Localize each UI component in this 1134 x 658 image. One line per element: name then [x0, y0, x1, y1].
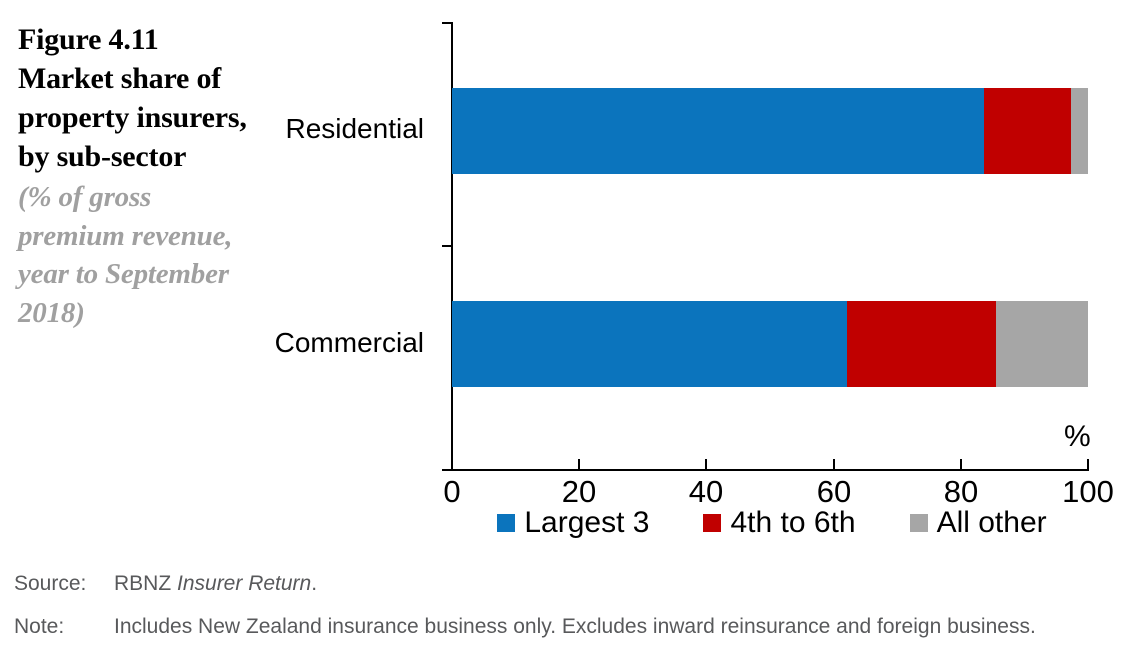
legend-label-largest-3: Largest 3	[524, 508, 649, 538]
category-label-commercial: Commercial	[275, 327, 424, 359]
x-axis-tick-100	[1087, 459, 1089, 470]
legend-item-largest-3[interactable]: Largest 3	[497, 508, 649, 538]
bar-row-commercial	[452, 301, 1088, 387]
note-value: Includes New Zealand insurance business …	[114, 615, 1134, 639]
bar-segment-residential-4th-to-6th	[984, 88, 1072, 174]
source-text: RBNZ	[114, 572, 177, 595]
legend-swatch-largest-3	[497, 514, 515, 532]
category-label-residential: Residential	[285, 113, 424, 145]
source-row: Source: RBNZ Insurer Return.	[14, 572, 1134, 596]
legend-swatch-all-other	[910, 514, 928, 532]
y-axis-tick-top	[442, 22, 451, 24]
x-axis-tick-0	[451, 459, 453, 470]
x-axis-label-0: 0	[443, 474, 460, 510]
bar-segment-commercial-largest-3	[452, 301, 847, 387]
x-axis-tick-40	[705, 459, 707, 470]
bar-segment-commercial-all-other	[996, 301, 1088, 387]
legend-label-all-other: All other	[937, 508, 1047, 538]
x-axis-label-80: 80	[944, 474, 978, 510]
legend-item-all-other[interactable]: All other	[910, 508, 1047, 538]
bar-segment-residential-all-other	[1071, 88, 1088, 174]
source-value: RBNZ Insurer Return.	[114, 572, 1134, 596]
figure-footnotes: Source: RBNZ Insurer Return. Note: Inclu…	[14, 572, 1134, 658]
x-axis-tick-20	[578, 459, 580, 470]
source-key: Source:	[14, 572, 114, 596]
chart-legend: Largest 3 4th to 6th All other	[452, 508, 1092, 538]
legend-item-4th-to-6th[interactable]: 4th to 6th	[703, 508, 855, 538]
note-row: Note: Includes New Zealand insurance bus…	[14, 615, 1134, 639]
bar-segment-commercial-4th-to-6th	[847, 301, 996, 387]
legend-swatch-4th-to-6th	[703, 514, 721, 532]
chart-plot-area: 0 20 40 60 80 100 % Residential Commerci…	[0, 0, 1134, 560]
x-axis-label-100: 100	[1062, 474, 1114, 510]
x-axis-label-20: 20	[562, 474, 596, 510]
x-axis-label-60: 60	[817, 474, 851, 510]
x-axis-tick-60	[833, 459, 835, 470]
note-key: Note:	[14, 615, 114, 639]
legend-label-4th-to-6th: 4th to 6th	[730, 508, 855, 538]
source-publication: Insurer Return	[177, 572, 311, 595]
y-axis-tick-bottom	[442, 469, 451, 471]
x-axis-tick-80	[960, 459, 962, 470]
bar-row-residential	[452, 88, 1088, 174]
x-axis-label-40: 40	[689, 474, 723, 510]
source-tail: .	[311, 572, 317, 595]
bar-segment-residential-largest-3	[452, 88, 984, 174]
axis-unit-label: %	[1064, 420, 1091, 454]
x-axis-line	[451, 469, 1089, 471]
y-axis-tick-middle	[442, 245, 451, 247]
